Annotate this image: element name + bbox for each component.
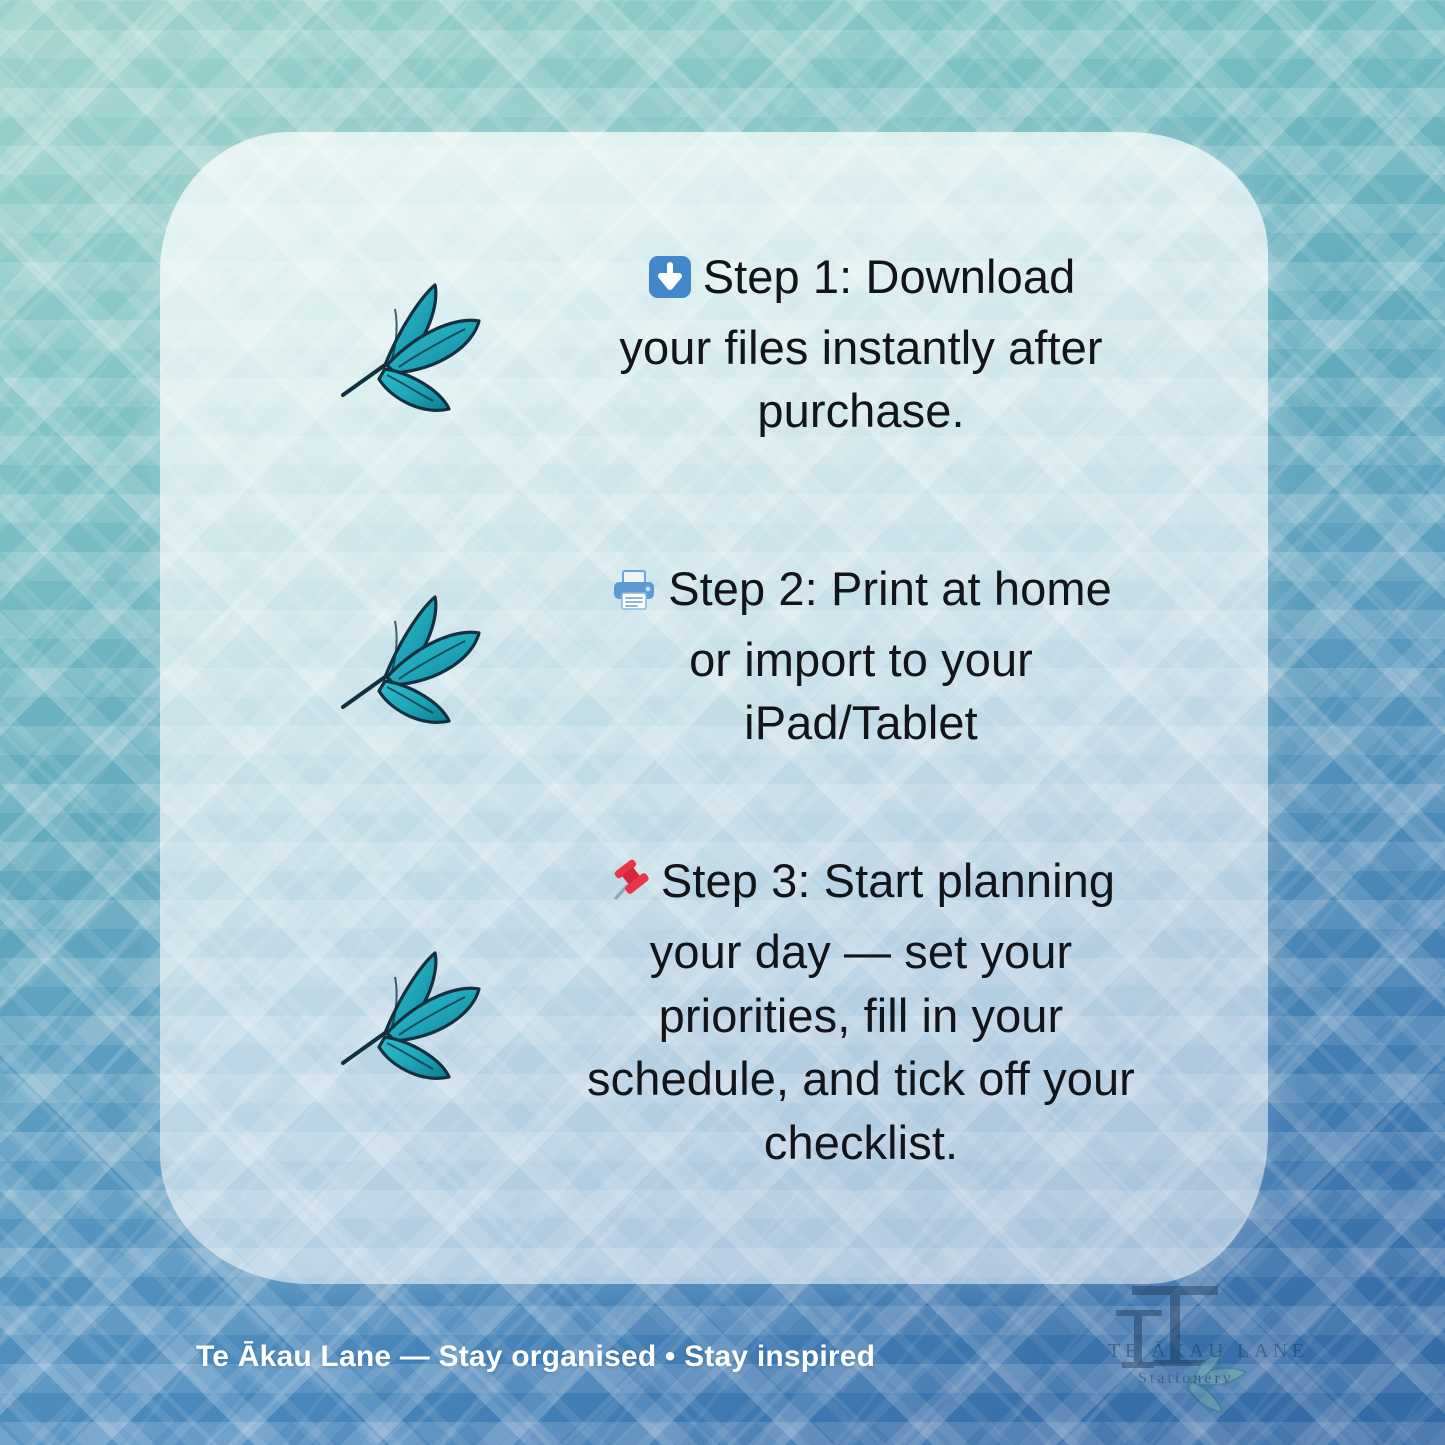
step-2-text: Step 2: Print at home or import to your … [502, 557, 1268, 756]
download-icon [647, 252, 693, 316]
step-3-label: Step 3: Start planning [661, 854, 1115, 907]
step-3-line-2: your day — set your [650, 925, 1072, 978]
step-row-3: Step 3: Start planning your day — set yo… [332, 842, 1268, 1182]
step-3-text: Step 3: Start planning your day — set yo… [502, 849, 1268, 1176]
step-3-line-4: schedule, and tick off your [587, 1052, 1135, 1105]
footer-tagline: Te Ākau Lane — Stay organised • Stay ins… [196, 1340, 875, 1374]
step-1-text: Step 1: Download your files instantly af… [502, 245, 1268, 444]
step-3-line-3: priorities, fill in your [659, 989, 1064, 1042]
step-row-2: Step 2: Print at home or import to your … [332, 536, 1268, 776]
step-3-line-5: checklist. [764, 1116, 958, 1169]
step-2-line-3: iPad/Tablet [744, 696, 978, 749]
step-row-1: Step 1: Download your files instantly af… [332, 224, 1268, 464]
step-1-line-3: purchase. [757, 384, 964, 437]
leaf-sprig-icon [332, 937, 502, 1087]
step-2-line-2: or import to your [689, 633, 1033, 686]
leaf-sprig-icon [332, 581, 502, 731]
pushpin-icon [607, 856, 651, 920]
leaf-sprig-icon [332, 269, 502, 419]
promo-graphic: Step 1: Download your files instantly af… [0, 0, 1445, 1445]
step-1-label: Step 1: Download [703, 250, 1076, 303]
step-1-line-2: your files instantly after [619, 321, 1102, 374]
step-2-label: Step 2: Print at home [668, 562, 1112, 615]
printer-icon [610, 564, 658, 628]
steps-list: Step 1: Download your files instantly af… [160, 132, 1268, 1284]
